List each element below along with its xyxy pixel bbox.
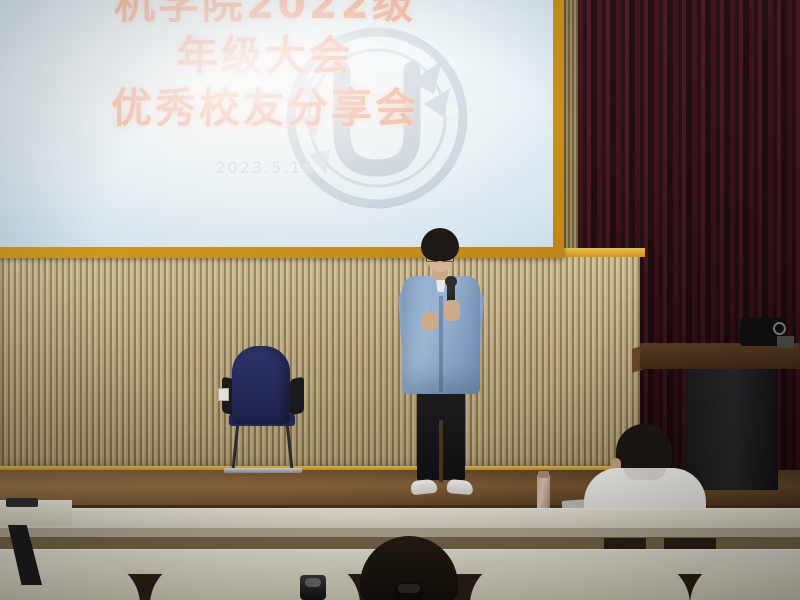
projection-screen: 机学院2022级 年级大会 优秀校友分享会 2023.5.14 bbox=[0, 0, 553, 247]
blue-conference-chair bbox=[232, 346, 290, 424]
desk-notch-right bbox=[664, 538, 716, 549]
microphone-head-icon bbox=[445, 276, 457, 287]
slide-title-line-1: 机学院2022级 bbox=[0, 0, 530, 30]
speaker-fist-left bbox=[421, 312, 438, 330]
wooden-lectern bbox=[640, 343, 800, 369]
lectern-body bbox=[686, 368, 778, 490]
desk-notch-left bbox=[604, 538, 646, 549]
audience-white-shirt-collar bbox=[624, 468, 666, 480]
podium-equipment-dial-icon bbox=[773, 322, 786, 335]
seat-back-2 bbox=[150, 560, 360, 600]
slide-title-line-3: 优秀校友分享会 bbox=[0, 82, 530, 134]
chair-armrest-right bbox=[290, 377, 304, 416]
desk-row-back-edge bbox=[0, 528, 800, 537]
speaker-hand-holding-mic bbox=[444, 300, 460, 321]
chair-tag bbox=[218, 388, 229, 401]
podium-equipment-panel bbox=[777, 336, 794, 348]
seat-back-3 bbox=[470, 560, 690, 600]
speaker-shoe-left bbox=[410, 479, 437, 496]
slide-text-block: 机学院2022级 年级大会 优秀校友分享会 2023.5.14 bbox=[0, 0, 530, 177]
camera-lens-icon bbox=[305, 578, 321, 587]
speaker-jacket-placket bbox=[439, 296, 443, 392]
slide-title-line-2: 年级大会 bbox=[0, 30, 530, 82]
projection-screen-frame: 机学院2022级 年级大会 优秀校友分享会 2023.5.14 bbox=[0, 0, 564, 258]
speaker-leg-gap bbox=[439, 420, 443, 482]
speaker-hair bbox=[421, 228, 459, 261]
hair-clip-icon bbox=[398, 584, 420, 593]
thermos-cap bbox=[538, 471, 549, 478]
wood-slat-wall-shading bbox=[0, 255, 640, 470]
chair-sled-base bbox=[224, 468, 302, 473]
desk-object-dark bbox=[6, 498, 38, 507]
slide-date: 2023.5.14 bbox=[0, 158, 530, 177]
photo-scene: 机学院2022级 年级大会 优秀校友分享会 2023.5.14 bbox=[0, 0, 800, 600]
